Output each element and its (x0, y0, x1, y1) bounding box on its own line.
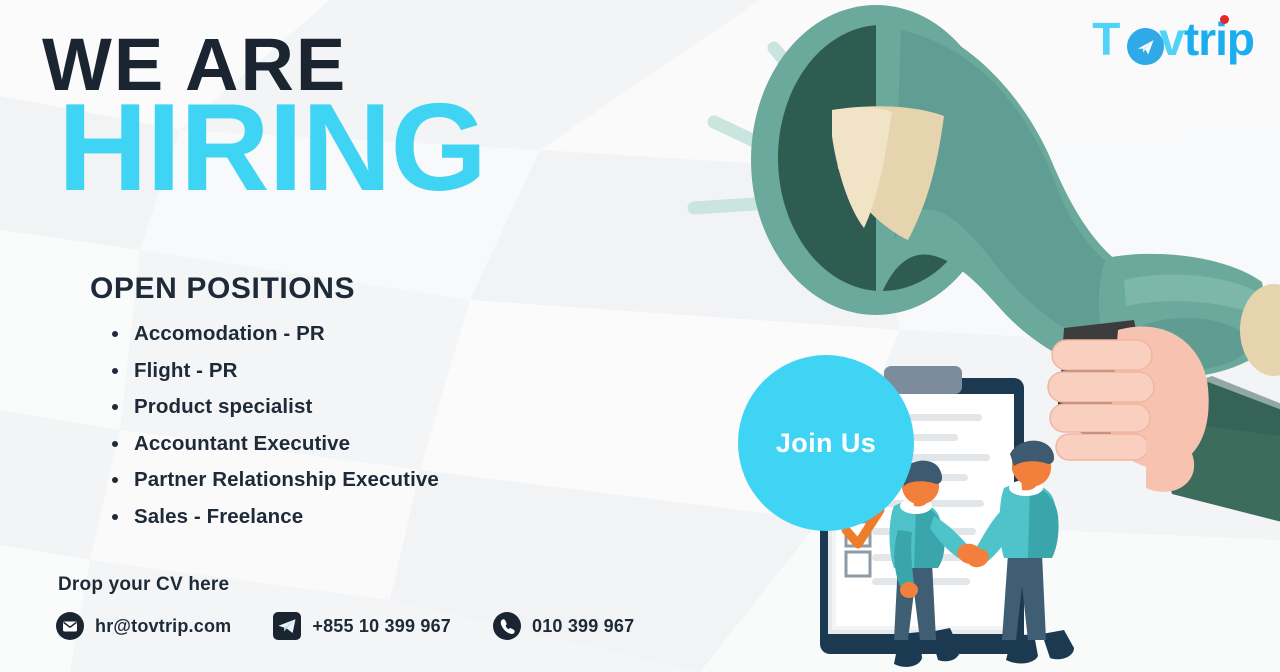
airplane-icon (1127, 28, 1164, 65)
join-us-label: Join Us (776, 428, 876, 459)
hiring-poster: Join Us WE ARE HIRING OPEN POSITIONS Acc… (0, 0, 1280, 672)
contact-phone-value: 010 399 967 (532, 616, 634, 637)
list-item: Sales - Freelance (108, 505, 439, 529)
telegram-icon (273, 612, 301, 640)
contact-telegram-value: +855 10 399 967 (312, 616, 451, 637)
contact-phone[interactable]: 010 399 967 (493, 612, 634, 640)
list-item: Accomodation - PR (108, 322, 439, 346)
contact-row: hr@tovtrip.com +855 10 399 967 010 399 9… (56, 612, 634, 640)
phone-icon (493, 612, 521, 640)
join-us-badge[interactable]: Join Us (738, 355, 914, 531)
logo-accent-dot (1220, 15, 1229, 24)
list-item: Product specialist (108, 395, 439, 419)
list-item: Accountant Executive (108, 432, 439, 456)
list-item: Partner Relationship Executive (108, 468, 439, 492)
headline-line-2: HIRING (58, 94, 486, 203)
list-item: Flight - PR (108, 359, 439, 383)
headline: WE ARE HIRING (42, 30, 486, 203)
drop-cv-label: Drop your CV here (58, 574, 229, 596)
brand-logo[interactable]: Tvtrip (1092, 16, 1254, 62)
open-positions-list: Accomodation - PR Flight - PR Product sp… (108, 322, 439, 542)
logo-text-part1: T (1092, 13, 1119, 65)
logo-text-part2: v (1159, 13, 1184, 65)
contact-telegram[interactable]: +855 10 399 967 (273, 612, 451, 640)
open-positions-title: OPEN POSITIONS (90, 272, 355, 306)
logo-text-part3: trip (1184, 13, 1254, 65)
envelope-icon (56, 612, 84, 640)
contact-email-value: hr@tovtrip.com (95, 616, 231, 637)
contact-email[interactable]: hr@tovtrip.com (56, 612, 231, 640)
